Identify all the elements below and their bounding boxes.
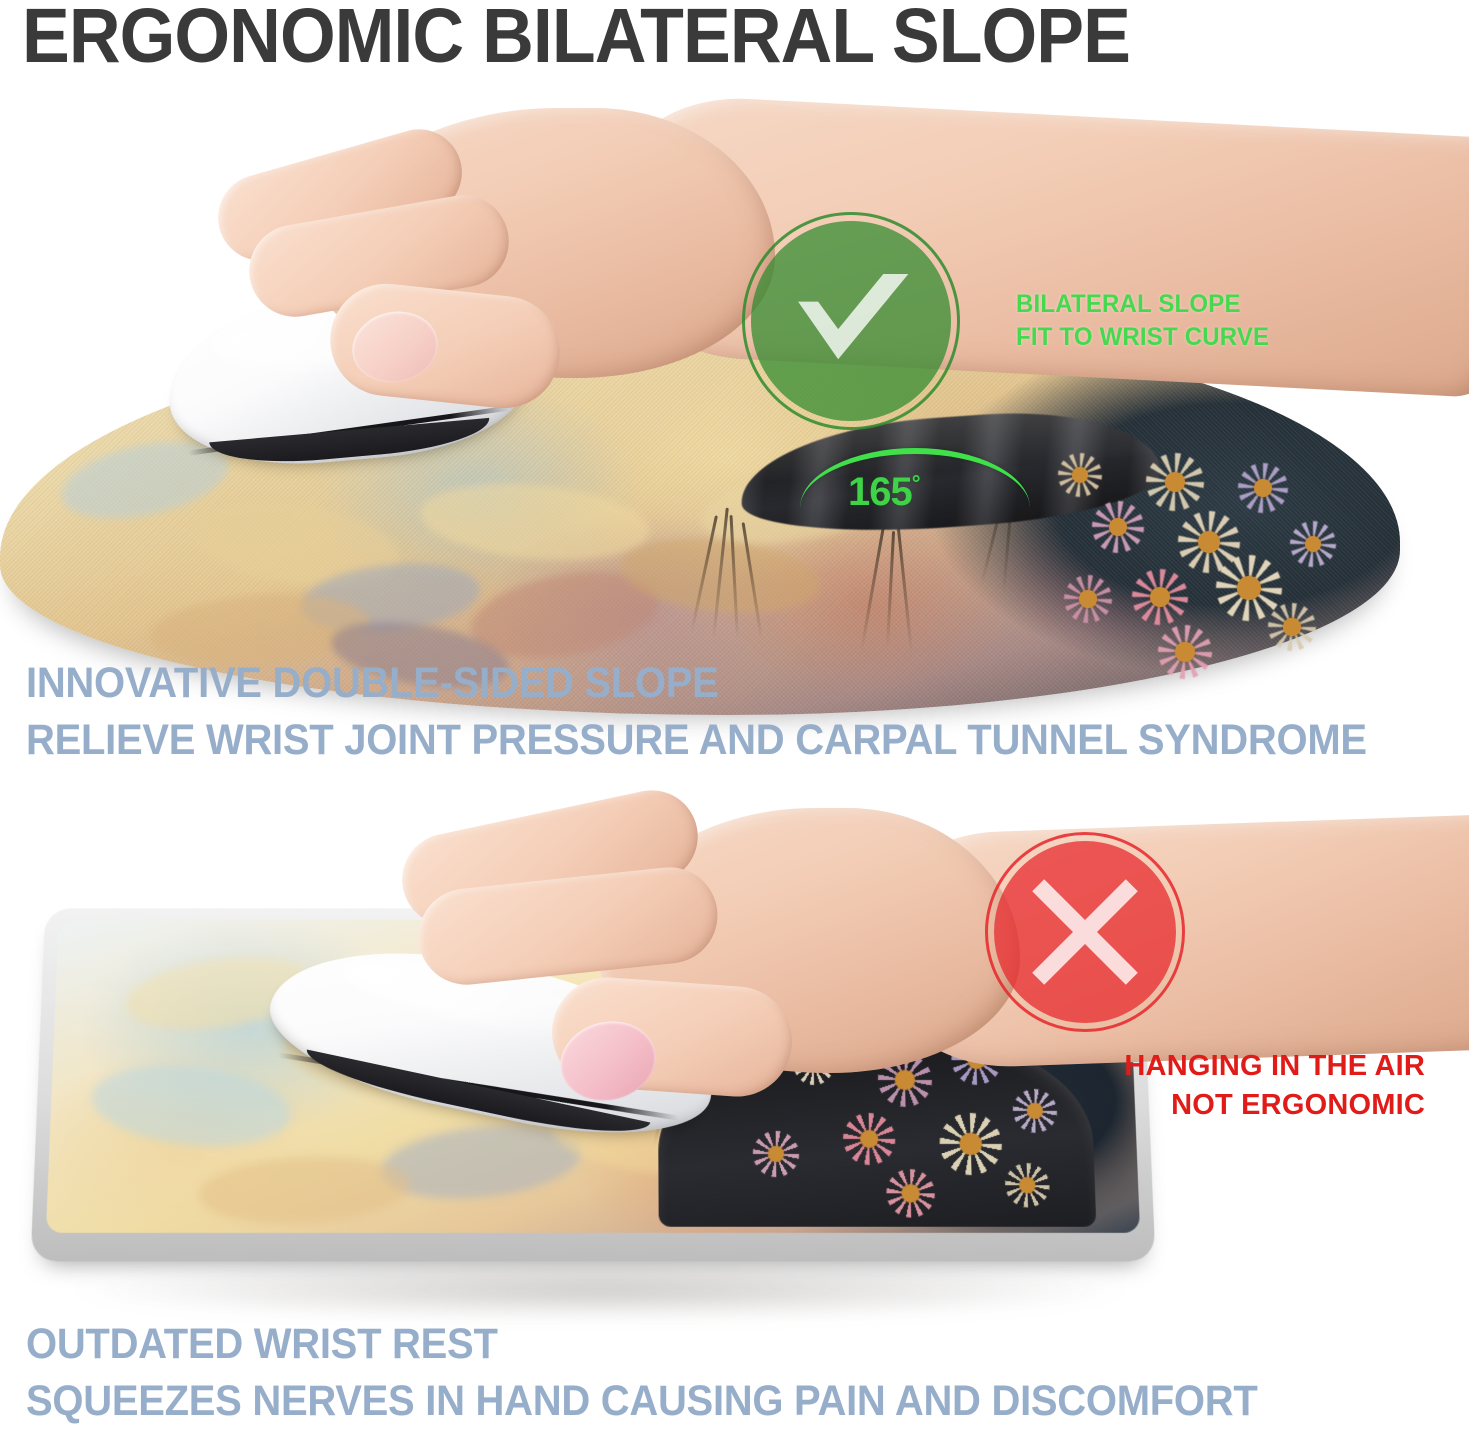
bad-caption-line2: SQUEEZES NERVES IN HAND CAUSING PAIN AND… bbox=[26, 1373, 1258, 1430]
bad-badge-label-line1: HANGING IN THE AIR bbox=[1124, 1047, 1425, 1086]
good-badge-label: BILATERAL SLOPE FIT TO WRIST CURVE bbox=[1016, 288, 1269, 354]
x-icon bbox=[1025, 872, 1145, 992]
brush-stroke bbox=[186, 491, 405, 597]
flower-daisy bbox=[753, 1131, 800, 1177]
bad-badge-label-line2: NOT ERGONOMIC bbox=[1124, 1086, 1425, 1125]
flower-daisy bbox=[1058, 453, 1102, 497]
brush-stroke bbox=[297, 556, 483, 640]
check-circle-badge bbox=[742, 212, 960, 430]
wheat-stroke bbox=[886, 531, 895, 647]
wheat-stroke bbox=[730, 515, 739, 639]
angle-value-label: 165° bbox=[848, 470, 920, 515]
flower-daisy bbox=[1290, 521, 1336, 567]
brush-stroke bbox=[198, 1152, 412, 1230]
flower-daisy bbox=[886, 1169, 936, 1218]
brush-stroke bbox=[417, 475, 653, 569]
angle-number: 165 bbox=[848, 470, 912, 514]
brush-stroke bbox=[87, 1057, 296, 1155]
bad-caption: OUTDATED WRIST REST SQUEEZES NERVES IN H… bbox=[26, 1316, 1258, 1430]
flower-daisy bbox=[1132, 569, 1188, 625]
wheat-stroke bbox=[896, 524, 913, 654]
flower-daisy bbox=[1092, 501, 1144, 553]
flower-daisy bbox=[843, 1113, 896, 1165]
slope-angle-annotation: 165° bbox=[800, 448, 1030, 528]
bad-caption-line1: OUTDATED WRIST REST bbox=[26, 1316, 1258, 1373]
flower-daisy bbox=[1216, 555, 1282, 621]
wheat-stroke bbox=[690, 515, 718, 633]
pad-shadow bbox=[60, 1260, 1140, 1320]
wheat-stroke bbox=[712, 508, 729, 640]
ergonomic-panel: 165° BILATERAL SLOPE FIT TO WRIST CURVE bbox=[0, 60, 1469, 660]
flower-daisy bbox=[939, 1113, 1003, 1175]
check-icon bbox=[790, 269, 916, 369]
good-caption-line1: INNOVATIVE DOUBLE-SIDED SLOPE bbox=[26, 655, 1367, 712]
bad-badge-label: HANGING IN THE AIR NOT ERGONOMIC bbox=[1124, 1047, 1425, 1125]
brush-stroke bbox=[617, 530, 823, 623]
good-badge-label-line2: FIT TO WRIST CURVE bbox=[1016, 321, 1269, 354]
flower-daisy bbox=[1146, 453, 1204, 511]
flower-daisy bbox=[1012, 1089, 1058, 1133]
flower-daisy bbox=[1268, 603, 1316, 651]
wheat-stroke bbox=[860, 527, 885, 652]
x-circle-badge bbox=[985, 832, 1185, 1032]
brush-stroke bbox=[378, 1117, 585, 1208]
good-caption-line2: RELIEVE WRIST JOINT PRESSURE AND CARPAL … bbox=[26, 712, 1367, 769]
good-caption: INNOVATIVE DOUBLE-SIDED SLOPE RELIEVE WR… bbox=[26, 655, 1367, 769]
flower-daisy bbox=[1064, 575, 1112, 623]
wheat-stroke bbox=[742, 522, 763, 639]
angle-degree-symbol: ° bbox=[912, 471, 920, 496]
flower-daisy bbox=[1004, 1163, 1050, 1207]
good-badge-label-line1: BILATERAL SLOPE bbox=[1016, 288, 1269, 321]
flower-daisy bbox=[1238, 463, 1288, 513]
